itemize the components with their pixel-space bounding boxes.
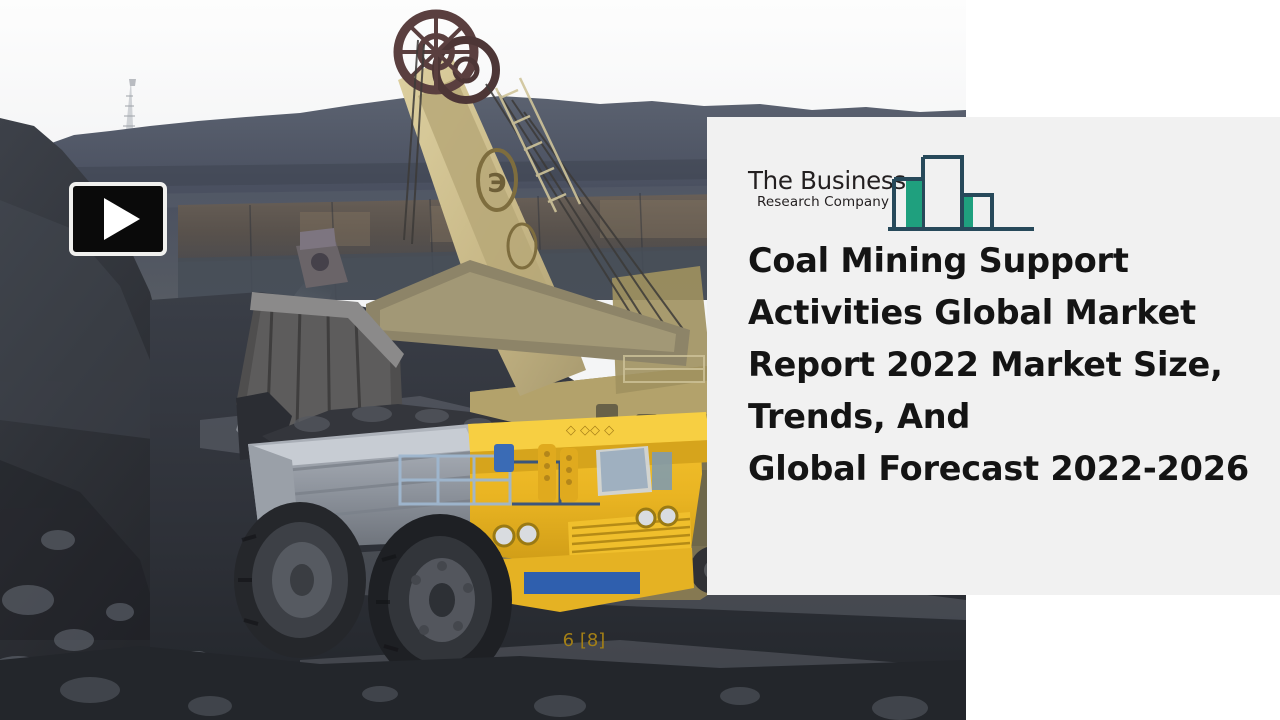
title-line-5: Global Forecast 2022-2026	[748, 443, 1268, 495]
logo-line-1: The Business	[748, 169, 898, 194]
title-panel: The Business Research Company Coal M	[707, 117, 1280, 595]
truck-rear-wheel	[234, 502, 366, 658]
company-logo: The Business Research Company	[748, 149, 1038, 237]
logo-bar-chart-icon	[888, 149, 1038, 237]
svg-text:Э: Э	[487, 169, 506, 199]
title-line-1: Coal Mining Support	[748, 235, 1268, 287]
svg-text:◇ ◇◇ ◇: ◇ ◇◇ ◇	[566, 423, 614, 438]
title-line-4: Trends, And	[748, 391, 1268, 443]
page-title: Coal Mining Support Activities Global Ma…	[748, 235, 1268, 495]
presentation-slide: Э	[0, 0, 1280, 720]
svg-text:6 [8]: 6 [8]	[563, 630, 606, 651]
play-button[interactable]	[69, 182, 167, 256]
play-triangle-icon	[104, 198, 140, 240]
logo-line-2: Research Company	[757, 196, 898, 210]
logo-wordmark: The Business Research Company	[748, 169, 898, 209]
title-line-2: Activities Global Market	[748, 287, 1268, 339]
title-line-3: Report 2022 Market Size,	[748, 339, 1268, 391]
